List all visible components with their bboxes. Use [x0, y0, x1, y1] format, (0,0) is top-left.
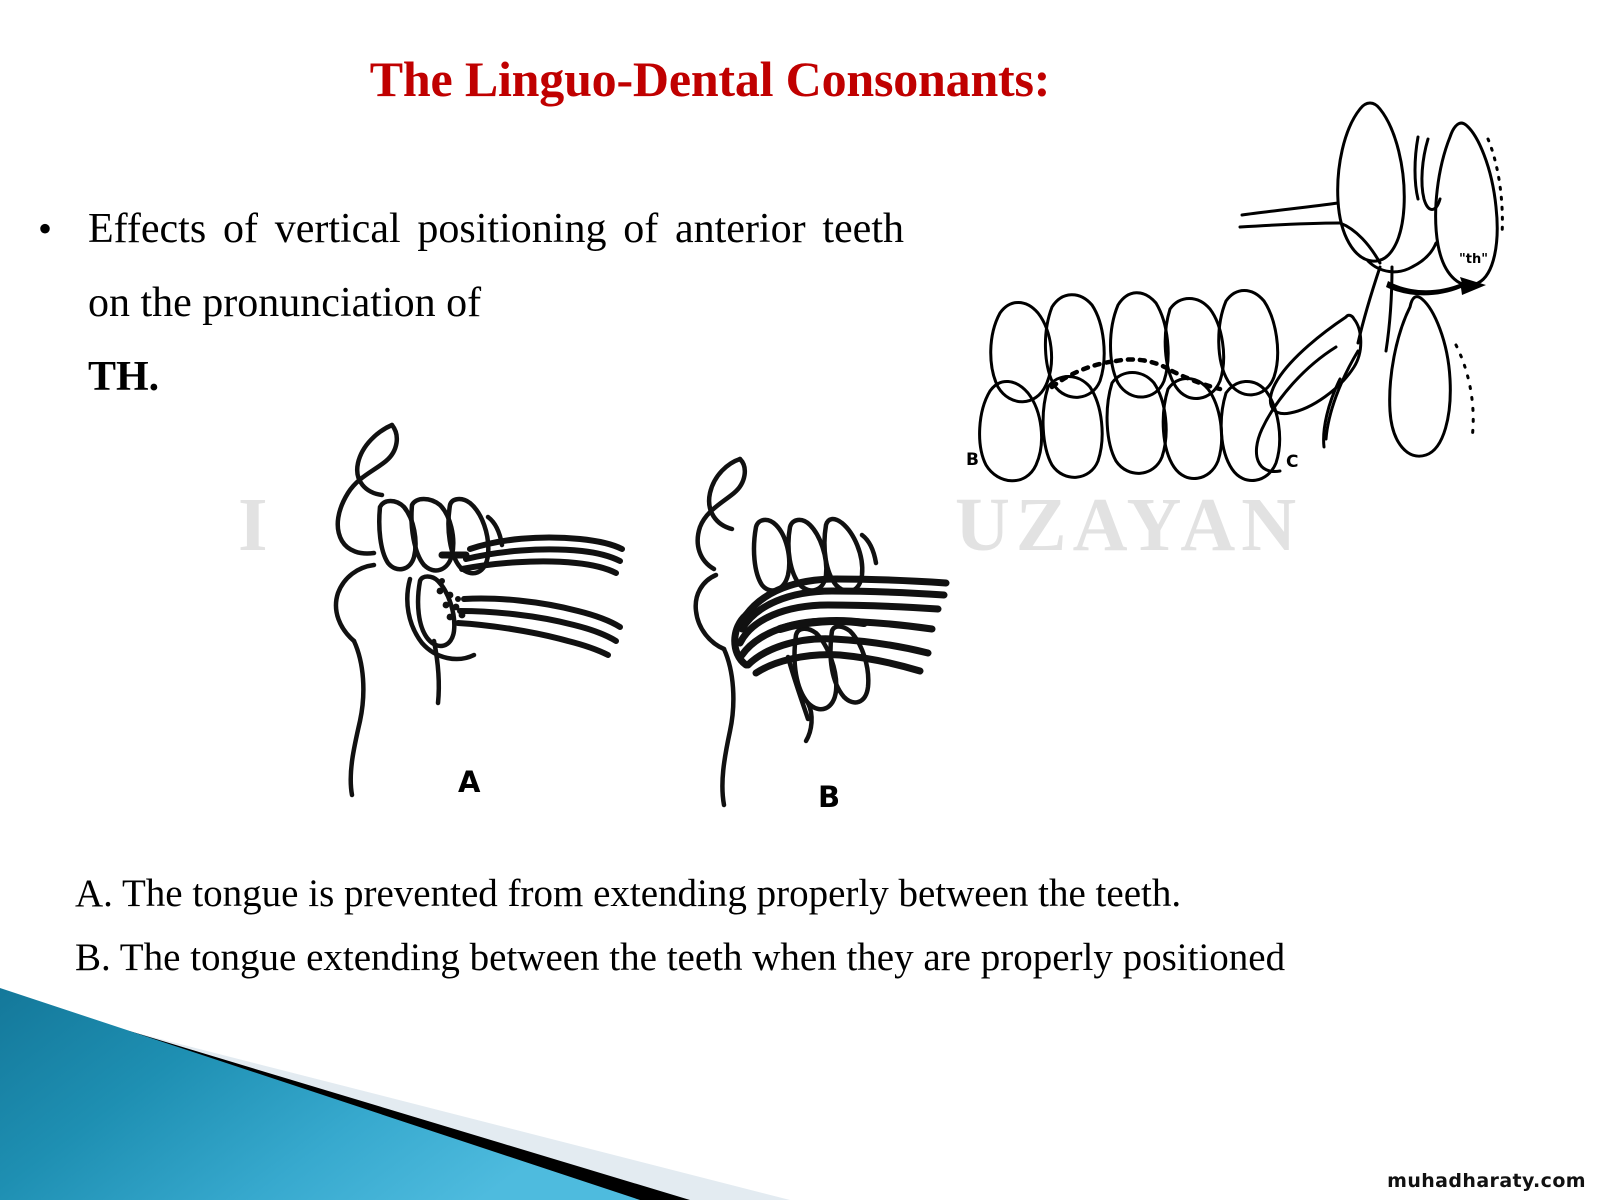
- footer-site-label: muhadharaty.com: [1387, 1170, 1586, 1192]
- decoration-teal-triangle: [0, 988, 640, 1200]
- figure-panel-a: [300, 415, 630, 825]
- figure-teeth-and-th: B C: [940, 95, 1510, 485]
- figure-b-svg: [660, 415, 990, 825]
- bullet-paragraph: • Effects of vertical positioning of ant…: [24, 192, 904, 414]
- figure-label-b: B: [818, 780, 840, 814]
- figure-label-c-top: C: [1286, 452, 1298, 472]
- bullet-text-main: Effects of vertical positioning of anter…: [88, 206, 904, 326]
- bullet-point-icon: •: [24, 192, 88, 266]
- figure-bc-svg: [940, 95, 1510, 485]
- th-annotation-label: "th": [1459, 252, 1488, 267]
- figure-label-a: A: [458, 765, 480, 799]
- bullet-row: • Effects of vertical positioning of ant…: [24, 192, 904, 414]
- figure-panel-b: [660, 415, 990, 825]
- corner-decoration: [0, 970, 800, 1200]
- caption-b: B. The tongue extending between the teet…: [75, 926, 1525, 990]
- bullet-text: Effects of vertical positioning of anter…: [88, 192, 904, 414]
- figure-a-svg: [300, 415, 630, 825]
- watermark-left: I: [238, 482, 274, 569]
- figure-captions: A. The tongue is prevented from extendin…: [75, 862, 1525, 990]
- slide-canvas: The Linguo-Dental Consonants: • Effects …: [0, 0, 1600, 1200]
- bullet-text-emphasis: TH.: [88, 340, 904, 414]
- decoration-black-band: [0, 992, 690, 1200]
- watermark-right: UZAYAN: [955, 482, 1302, 569]
- caption-a: A. The tongue is prevented from extendin…: [75, 862, 1525, 926]
- th-airflow-arrow: [1386, 277, 1486, 295]
- decoration-light-band: [0, 998, 790, 1200]
